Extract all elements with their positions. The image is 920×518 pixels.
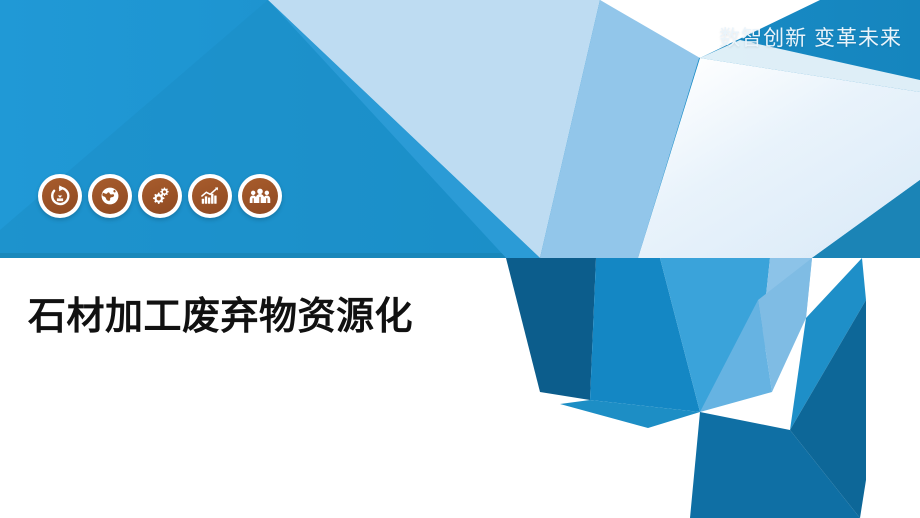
icon-badge-recycle[interactable] xyxy=(38,174,82,218)
gears-icon xyxy=(149,185,172,208)
page-title: 石材加工废弃物资源化 xyxy=(28,296,413,340)
slide-canvas: 数智创新 变革未来 xyxy=(0,0,920,518)
tagline: 数智创新 变革未来 xyxy=(719,28,902,49)
bar-chart-icon xyxy=(199,185,221,207)
people-icon xyxy=(248,184,272,208)
icon-disc xyxy=(42,178,78,214)
icon-row xyxy=(38,174,282,218)
recycle-icon xyxy=(49,185,71,207)
icon-badge-globe[interactable] xyxy=(88,174,132,218)
icon-badge-gears[interactable] xyxy=(138,174,182,218)
icon-disc xyxy=(142,178,178,214)
icon-disc xyxy=(92,178,128,214)
icon-disc xyxy=(192,178,228,214)
background-artwork xyxy=(0,0,920,518)
icon-badge-people[interactable] xyxy=(238,174,282,218)
globe-icon xyxy=(99,185,121,207)
icon-disc xyxy=(242,178,278,214)
icon-badge-bar-chart[interactable] xyxy=(188,174,232,218)
